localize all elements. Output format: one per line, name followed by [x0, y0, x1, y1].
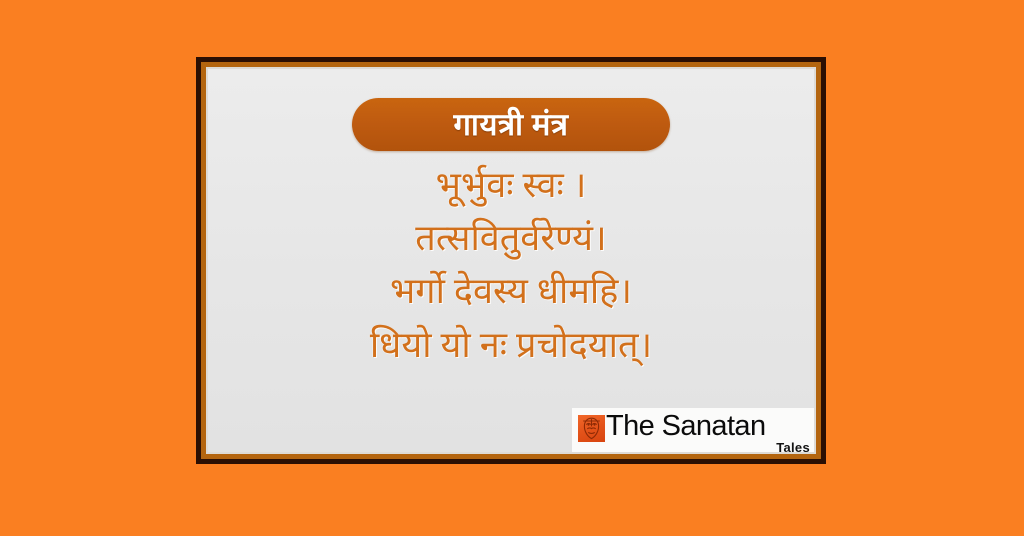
- page-title: गायत्री मंत्र: [453, 109, 568, 140]
- title-pill: गायत्री मंत्र: [352, 98, 670, 151]
- mantra-card: गायत्री मंत्र भूर्भुवः स्वः । तत्सवितुर्…: [196, 57, 826, 464]
- poster-canvas: गायत्री मंत्र भूर्भुवः स्वः । तत्सवितुर्…: [0, 0, 1024, 536]
- mantra-line: भूर्भुवः स्वः ।: [436, 161, 587, 209]
- watermark-brand-sub: Tales: [776, 441, 810, 454]
- mantra-line: भर्गो देवस्य धीमहि।: [390, 267, 632, 315]
- watermark-brand-name: The Sanatan: [606, 412, 765, 440]
- mantra-line: धियो यो नः प्रचोदयात्।: [370, 321, 652, 369]
- mantra-line: तत्सवितुर्वरेण्यं।: [415, 214, 606, 262]
- mantra-verse-block: भूर्भुवः स्वः । तत्सवितुर्वरेण्यं। भर्गो…: [208, 161, 814, 369]
- mantra-card-surface: गायत्री मंत्र भूर्भुवः स्वः । तत्सवितुर्…: [206, 67, 816, 454]
- watermark-logo: The Sanatan Tales: [572, 408, 816, 454]
- deity-face-icon: [578, 415, 605, 442]
- mantra-card-inner-frame: गायत्री मंत्र भूर्भुवः स्वः । तत्सवितुर्…: [201, 62, 821, 459]
- watermark-text: The Sanatan Tales: [605, 412, 812, 454]
